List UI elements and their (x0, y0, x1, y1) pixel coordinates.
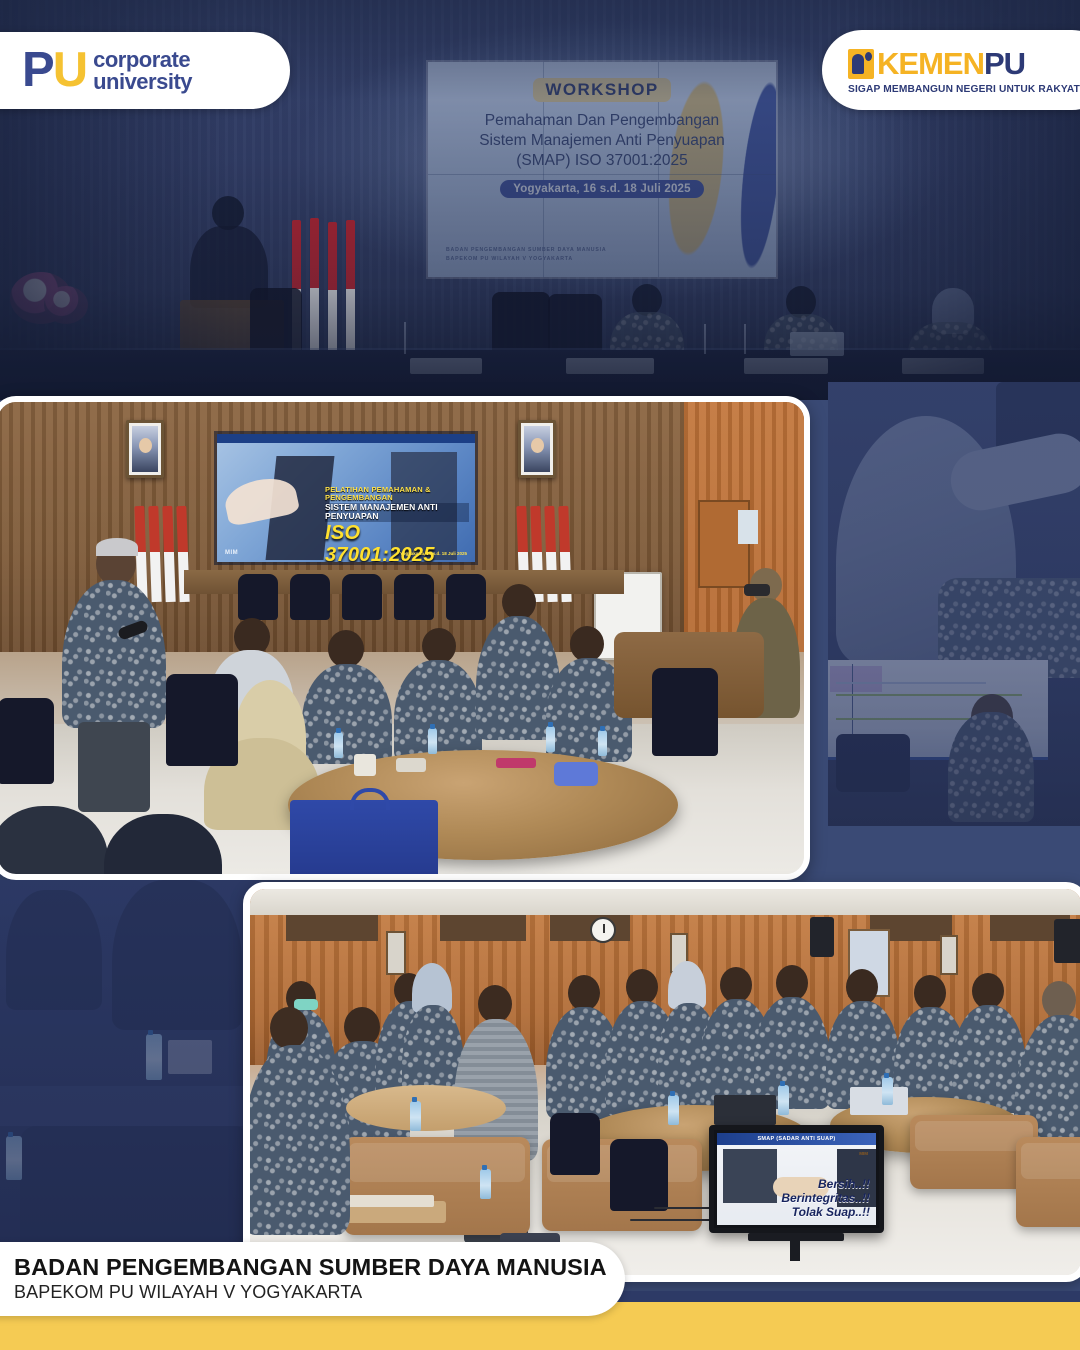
tv-message-line3: Tolak Suap..!! (717, 1205, 870, 1219)
classroom-session-photo: PELATIHAN PEMAHAMAN & PENGEMBANGAN SISTE… (0, 396, 810, 880)
pu-corporate-university-logo: PU corporate university (0, 32, 290, 109)
kemenpu-logo: KEMENPU SIGAP MEMBANGUN NEGERI UNTUK RAK… (822, 30, 1080, 110)
pu-logo-line1: corporate (93, 49, 192, 71)
tv-message-line1: Bersih..!! (717, 1177, 870, 1191)
office-chair (550, 1113, 600, 1175)
water-bottle (428, 728, 437, 754)
ceiling-speaker (810, 917, 834, 957)
tv-message-line2: Berintegritas..!! (717, 1191, 870, 1205)
chair (446, 574, 486, 620)
tissue-box (354, 754, 376, 776)
pu-monogram: PU corporate university (22, 48, 192, 92)
presenter-hair (96, 538, 138, 556)
blue-tote-bag (290, 800, 438, 880)
presentation-screen: PELATIHAN PEMAHAMAN & PENGEMBANGAN SISTE… (217, 434, 475, 562)
laptop (850, 1087, 908, 1115)
side-photo-tint-overlay (828, 382, 1080, 826)
wall-clock (590, 917, 616, 943)
tv-watermark: MIM (859, 1151, 868, 1156)
table-detail-photo (0, 880, 260, 1300)
group-activity-photo: SMAP (SADAR ANTI SUAP) MIM Bersih..!! Be… (243, 882, 1080, 1282)
participant-body (394, 660, 482, 762)
participant-head (972, 973, 1004, 1009)
vice-president-portrait (518, 420, 556, 478)
office-chair (610, 1139, 668, 1211)
banner-line1: BADAN PENGEMBANGAN SUMBER DAYA MANUSIA (14, 1255, 625, 1280)
kemenpu-word-kemen: KEMEN (877, 46, 984, 82)
water-bottle (410, 1101, 421, 1131)
face-mask (744, 584, 770, 596)
participant-head (776, 965, 808, 1001)
water-bottle (546, 726, 555, 752)
water-bottle (598, 730, 607, 756)
mid-screen-line2: SISTEM MANAJEMEN ANTI PENYUAPAN (325, 503, 469, 522)
water-bottle (480, 1169, 491, 1199)
water-bottle (882, 1077, 893, 1105)
water-bottle (668, 1095, 679, 1125)
sofa (1016, 1137, 1080, 1227)
standing-man-head (478, 985, 512, 1023)
participant-body (754, 997, 830, 1109)
kemenpu-icon (848, 49, 874, 79)
footer-banner: BADAN PENGEMBANGAN SUMBER DAYA MANUSIA B… (0, 1242, 625, 1316)
participant-head (328, 630, 364, 668)
pu-letter-u: U (53, 48, 86, 92)
paper-stack (396, 758, 426, 772)
presenter-trousers (78, 722, 150, 812)
chair (394, 574, 434, 620)
foreground-left-head (270, 1007, 308, 1049)
wall-plaque (940, 935, 958, 975)
presenter-body (62, 580, 166, 728)
tv-leg (790, 1239, 800, 1261)
kemenpu-tagline: SIGAP MEMBANGUN NEGERI UNTUK RAKYAT (848, 84, 1080, 95)
office-chair (652, 668, 718, 756)
tv-header-text: SMAP (SADAR ANTI SUAP) (717, 1133, 876, 1145)
mid-screen-line1: PELATIHAN PEMAHAMAN & PENGEMBANGAN (325, 486, 469, 503)
pu-letter-p: P (22, 48, 53, 92)
participant-head (846, 969, 878, 1005)
participant-head (626, 969, 658, 1005)
wall-sign (738, 510, 758, 544)
poster-canvas: WORKSHOP Pemahaman Dan Pengembangan Sist… (0, 0, 1080, 1350)
blue-bag (554, 762, 598, 786)
chair (238, 574, 278, 620)
participant-head (914, 975, 946, 1011)
foreground-left-body (243, 1045, 350, 1235)
chair (342, 574, 382, 620)
participant-head (568, 975, 600, 1011)
banner-line2: BAPEKOM PU WILAYAH V YOGYAKARTA (14, 1282, 625, 1303)
water-bottle (778, 1085, 789, 1115)
flag-cluster-left (136, 506, 188, 602)
ceiling-strip (250, 889, 1080, 915)
wall-plaque (386, 931, 406, 975)
office-chair (166, 674, 238, 766)
mid-screen-date: Yogyakarta, 16 s.d. 18 Juli 2025 (400, 551, 467, 556)
pouch (496, 758, 536, 768)
participant-body (302, 664, 392, 764)
tv-monitor: SMAP (SADAR ANTI SUAP) MIM Bersih..!! Be… (709, 1125, 884, 1233)
participant-head (502, 584, 536, 620)
mim-logo: MIM (225, 550, 238, 556)
participant-head (422, 628, 456, 664)
bottom-left-tint-overlay (0, 880, 260, 1300)
covered-table (346, 1085, 506, 1131)
president-portrait (126, 420, 164, 478)
participant-head (720, 967, 752, 1003)
water-bottle (334, 732, 343, 758)
attendee-side-photo (828, 382, 1080, 826)
chair (290, 574, 330, 620)
participant-head (570, 626, 604, 662)
pu-logo-line2: university (93, 71, 192, 93)
ceiling-speaker (1054, 919, 1080, 963)
kemenpu-word-pu: PU (984, 46, 1025, 82)
facilitator-head (1042, 981, 1076, 1019)
office-chair (0, 698, 54, 784)
laptop (714, 1095, 776, 1125)
